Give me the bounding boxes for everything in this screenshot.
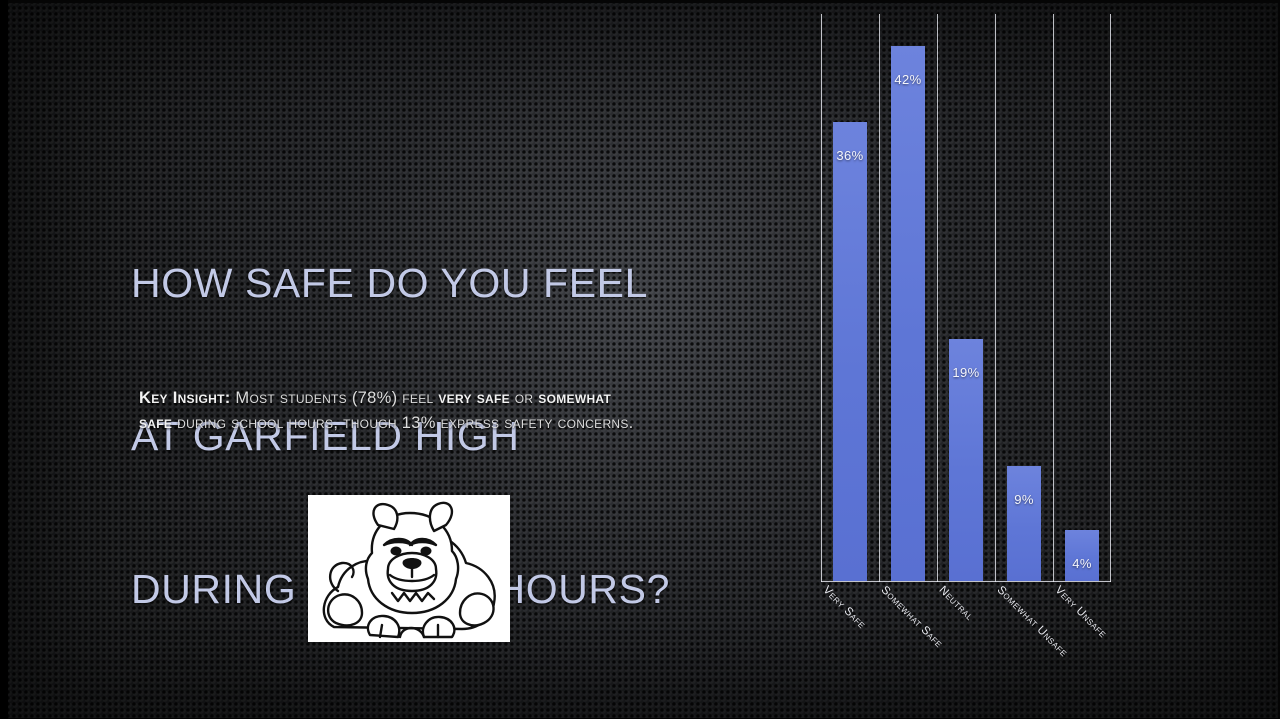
title-line-1: HOW SAFE DO YOU FEEL <box>131 258 751 309</box>
chart-bar-value-label: 42% <box>894 72 921 87</box>
bulldog-mascot-image <box>308 495 510 642</box>
insight-part-2: or <box>510 389 538 407</box>
chart-axis-right <box>1110 14 1111 582</box>
chart-category-label: Somewhat Safe <box>879 584 945 650</box>
chart-gridline <box>937 14 938 582</box>
chart-axis-left <box>821 14 822 582</box>
chart-bar-value-label: 9% <box>1014 492 1034 507</box>
presentation-slide: HOW SAFE DO YOU FEEL AT GARFIELD HIGH DU… <box>0 0 1280 719</box>
chart-bar[interactable]: 9% <box>1007 466 1041 581</box>
chart-gridline <box>995 14 996 582</box>
chart-plot-area: 36%42%19%9%4% <box>821 14 1111 582</box>
chart-bar[interactable]: 19% <box>949 339 983 581</box>
chart-bar-value-label: 19% <box>952 365 979 380</box>
chart-category-label: Neutral <box>937 584 976 623</box>
bar-chart: 36%42%19%9%4% Very SafeSomewhat SafeNeut… <box>821 14 1111 582</box>
chart-bar[interactable]: 42% <box>891 46 925 581</box>
bulldog-icon <box>308 495 510 642</box>
key-insight-label: Key Insight: <box>139 389 231 407</box>
chart-bar-value-label: 4% <box>1072 556 1092 571</box>
chart-category-label: Very Unsafe <box>1053 584 1109 640</box>
insight-part-3: during school hours, though 13% express … <box>172 414 633 432</box>
chart-bar[interactable]: 36% <box>833 122 867 581</box>
chart-gridline <box>1053 14 1054 582</box>
insight-part-1: Most students (78%) feel <box>231 389 439 407</box>
chart-bar-value-label: 36% <box>836 148 863 163</box>
key-insight-text: Key Insight: Most students (78%) feel ve… <box>139 386 639 436</box>
chart-category-label: Very Safe <box>821 584 868 631</box>
chart-category-labels: Very SafeSomewhat SafeNeutralSomewhat Un… <box>821 584 1121 719</box>
insight-emphasis-very-safe: very safe <box>438 389 510 407</box>
chart-bar[interactable]: 4% <box>1065 530 1099 581</box>
chart-gridline <box>879 14 880 582</box>
chart-axis-baseline <box>821 581 1111 582</box>
